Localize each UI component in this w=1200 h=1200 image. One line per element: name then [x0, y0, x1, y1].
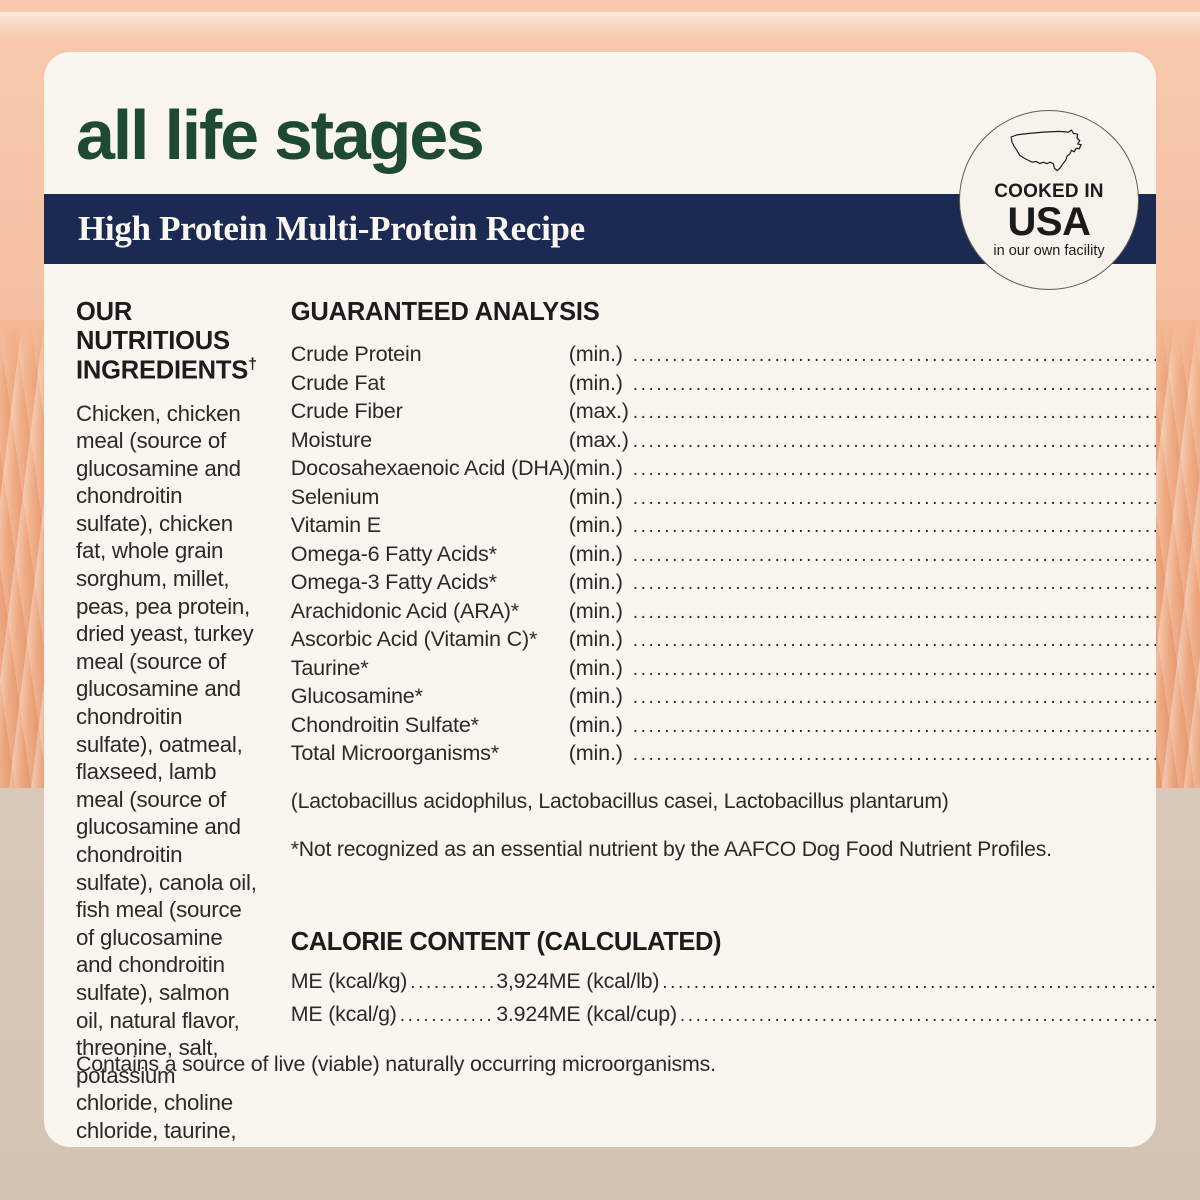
nutrition-label-card: all life stages High Protein Multi-Prote… [44, 52, 1156, 1147]
dot-leader: ........................................… [633, 429, 1156, 456]
analysis-nutrient-label: Total Microorganisms* [291, 740, 569, 767]
analysis-row: Ascorbic Acid (Vitamin C)*(min.)........… [291, 626, 1156, 655]
analysis-qualifier: (min.) [569, 455, 631, 482]
calorie-entry-label: ME (kcal/lb) [549, 969, 660, 994]
aafco-footnote: *Not recognized as an essential nutrient… [291, 837, 1156, 864]
badge-line-facility: in our own facility [993, 243, 1104, 259]
calorie-entry-label: ME (kcal/kg) [291, 969, 407, 994]
dot-leader: ........................................… [633, 514, 1156, 541]
dot-leader: ........................................… [633, 571, 1156, 598]
calorie-entry-label: ME (kcal/g) [291, 1002, 397, 1027]
analysis-row: Omega-6 Fatty Acids*(min.)..............… [291, 541, 1156, 570]
analysis-qualifier: (min.) [569, 569, 631, 596]
analysis-row: Arachidonic Acid (ARA)*(min.)...........… [291, 598, 1156, 627]
analysis-nutrient-label: Crude Fat [291, 370, 569, 397]
analysis-qualifier: (min.) [569, 370, 631, 397]
analysis-nutrient-label: Crude Protein [291, 341, 569, 368]
badge-line-usa: USA [1008, 203, 1091, 241]
analysis-nutrient-label: Selenium [291, 484, 569, 511]
analysis-row: Selenium(min.)..........................… [291, 484, 1156, 513]
analysis-row: Taurine*(min.)..........................… [291, 655, 1156, 684]
calorie-entry-value: 3,924 [496, 969, 549, 994]
analysis-nutrient-label: Omega-3 Fatty Acids* [291, 569, 569, 596]
analysis-qualifier: (max.) [569, 398, 631, 425]
analysis-qualifier: (min.) [569, 655, 631, 682]
analysis-qualifier: (min.) [569, 341, 631, 368]
calorie-entry: ME (kcal/cup)...........................… [549, 1002, 1156, 1027]
guaranteed-analysis-heading: GUARANTEED ANALYSIS [291, 298, 1156, 327]
dot-leader: ........................................… [662, 972, 1156, 994]
analysis-row: Glucosamine*(min.)......................… [291, 683, 1156, 712]
analysis-qualifier: (min.) [569, 484, 631, 511]
analysis-qualifier: (min.) [569, 712, 631, 739]
usa-map-icon [1007, 127, 1091, 175]
analysis-row: Docosahexaenoic Acid (DHA)(min.)........… [291, 455, 1156, 484]
analysis-qualifier: (min.) [569, 541, 631, 568]
guaranteed-analysis-list: Crude Protein(min.).....................… [291, 341, 1156, 769]
analysis-row: Chondroitin Sulfate*(min.)..............… [291, 712, 1156, 741]
dot-leader: ........................................… [680, 1005, 1156, 1027]
dot-leader: ........................................… [633, 685, 1156, 712]
calorie-entry-label: ME (kcal/cup) [549, 1002, 677, 1027]
calorie-entry: ME (kcal/lb)............................… [549, 969, 1156, 994]
dot-leader: ........................................… [633, 600, 1156, 627]
analysis-nutrient-label: Taurine* [291, 655, 569, 682]
analysis-row: Moisture(max.)..........................… [291, 427, 1156, 456]
calorie-entry-value: 3.924 [496, 1002, 549, 1027]
dot-leader: ........................................… [633, 486, 1156, 513]
analysis-qualifier: (min.) [569, 740, 631, 767]
analysis-row: Vitamin E(min.).........................… [291, 512, 1156, 541]
calorie-content-grid: ME (kcal/kg)............................… [291, 969, 1156, 1027]
dot-leader: ........................................… [633, 714, 1156, 741]
analysis-row: Total Microorganisms*(min.).............… [291, 740, 1156, 769]
analysis-qualifier: (min.) [569, 683, 631, 710]
analysis-qualifier: (max.) [569, 427, 631, 454]
dot-leader: ........................................… [400, 1005, 494, 1027]
calorie-content-heading: CALORIE CONTENT (CALCULATED) [291, 928, 1156, 957]
calorie-entry: ME (kcal/g).............................… [291, 1002, 549, 1027]
analysis-nutrient-label: Omega-6 Fatty Acids* [291, 541, 569, 568]
analysis-nutrient-label: Moisture [291, 427, 569, 454]
analysis-nutrient-label: Glucosamine* [291, 683, 569, 710]
analysis-row: Crude Protein(min.).....................… [291, 341, 1156, 370]
dot-leader: ........................................… [633, 628, 1156, 655]
ingredients-body: Chicken, chicken meal (source of glucosa… [76, 400, 257, 1148]
analysis-row: Crude Fat(min.).........................… [291, 370, 1156, 399]
live-microorganisms-statement: Contains a source of live (viable) natur… [76, 1052, 716, 1077]
dot-leader: ........................................… [633, 400, 1156, 427]
analysis-qualifier: (min.) [569, 626, 631, 653]
analysis-row: Crude Fiber(max.).......................… [291, 398, 1156, 427]
dot-leader: ........................................… [633, 742, 1156, 769]
calorie-entry: ME (kcal/kg)............................… [291, 969, 549, 994]
probiotic-strains-note: (Lactobacillus acidophilus, Lactobacillu… [291, 789, 1156, 816]
dagger-mark: † [248, 356, 257, 373]
dot-leader: ........................................… [633, 343, 1156, 370]
analysis-row: Omega-3 Fatty Acids*(min.)..............… [291, 569, 1156, 598]
dot-leader: ........................................… [633, 372, 1156, 399]
analysis-column: GUARANTEED ANALYSIS Crude Protein(min.).… [275, 298, 1156, 1147]
analysis-qualifier: (min.) [569, 512, 631, 539]
analysis-nutrient-label: Vitamin E [291, 512, 569, 539]
analysis-nutrient-label: Chondroitin Sulfate* [291, 712, 569, 739]
ingredients-column: OUR NUTRITIOUS INGREDIENTS† Chicken, chi… [76, 298, 275, 1147]
dot-leader: ........................................… [633, 457, 1156, 484]
dot-leader: ........................................… [410, 972, 493, 994]
analysis-nutrient-label: Crude Fiber [291, 398, 569, 425]
dot-leader: ........................................… [633, 657, 1156, 684]
analysis-qualifier: (min.) [569, 598, 631, 625]
analysis-nutrient-label: Arachidonic Acid (ARA)* [291, 598, 569, 625]
recipe-subtitle: High Protein Multi-Protein Recipe [78, 209, 585, 249]
cooked-in-usa-badge: COOKED IN USA in our own facility [959, 110, 1139, 290]
analysis-nutrient-label: Docosahexaenoic Acid (DHA) [291, 455, 569, 482]
analysis-nutrient-label: Ascorbic Acid (Vitamin C)* [291, 626, 569, 653]
ingredients-heading: OUR NUTRITIOUS INGREDIENTS† [76, 298, 257, 386]
ingredients-heading-text: OUR NUTRITIOUS INGREDIENTS [76, 298, 248, 385]
calorie-content-block: CALORIE CONTENT (CALCULATED) ME (kcal/kg… [291, 928, 1156, 1027]
dot-leader: ........................................… [633, 543, 1156, 570]
